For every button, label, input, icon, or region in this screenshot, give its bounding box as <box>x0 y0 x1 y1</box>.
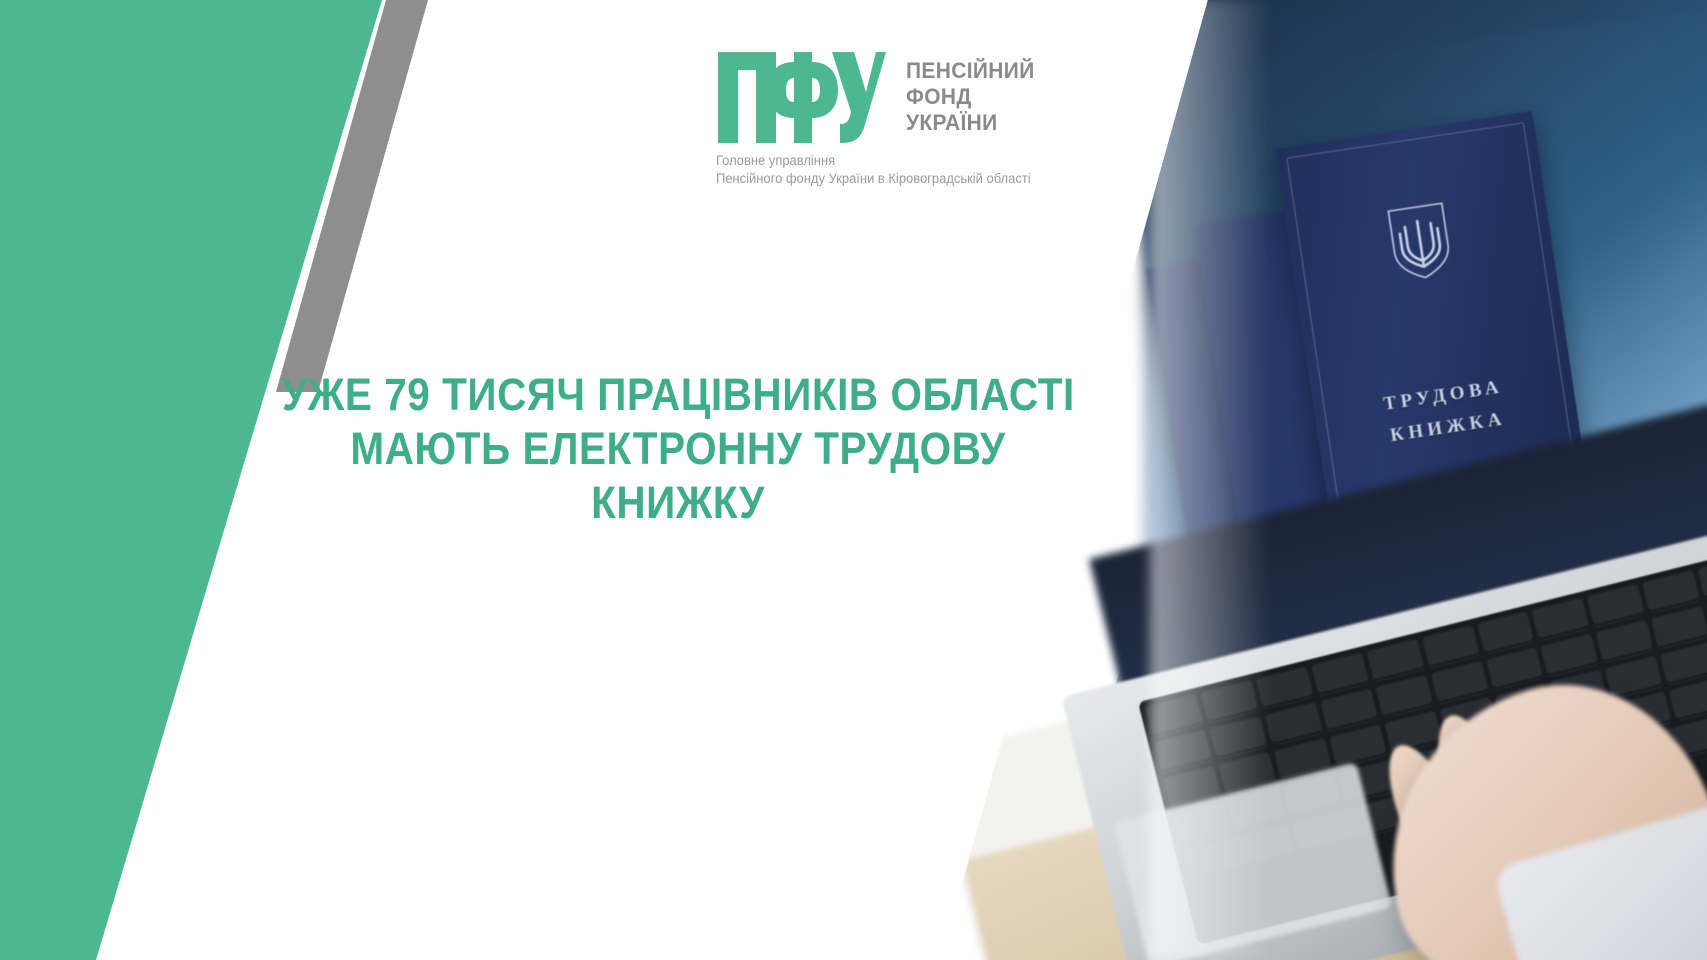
poster-canvas: ТРУДОВА КНИЖКА <box>0 0 1707 960</box>
keyboard-key <box>1605 656 1663 699</box>
logo-word-1: ПЕНСІЙНИЙ <box>906 58 1035 84</box>
department-subtitle-line1: Головне управління <box>716 152 1062 170</box>
keyboard-key <box>1587 584 1645 627</box>
keyboard-key <box>1660 642 1707 685</box>
keyboard-key <box>1421 625 1479 668</box>
keyboard-key <box>1532 598 1590 641</box>
keyboard-key <box>1669 678 1707 721</box>
pfu-logo-block: ПЕНСІЙНИЙ ФОНД УКРАЇНИ Головне управлінн… <box>716 48 1076 198</box>
headline-line-1: УЖЕ 79 ТИСЯЧ ПРАЦІВНИКІВ ОБЛАСТІ <box>282 368 1074 422</box>
department-subtitle: Головне управління Пенсійного фонду Укра… <box>716 152 1076 188</box>
logo-word-3: УКРАЇНИ <box>906 110 1035 136</box>
department-subtitle-line2: Пенсійного фонду України в Кіровоградськ… <box>716 170 1062 188</box>
keyboard-key <box>1698 556 1707 599</box>
keyboard-key <box>1329 724 1387 767</box>
keyboard-key <box>1486 647 1544 690</box>
headline-line-2: МАЮТЬ ЕЛЕКТРОННУ ТРУДОВУ <box>282 422 1074 476</box>
keyboard-key <box>1384 711 1442 754</box>
ukraine-trident-icon <box>1384 199 1457 285</box>
keyboard-key <box>1265 702 1323 745</box>
logo-word-2: ФОНД <box>906 84 1035 110</box>
keyboard-key <box>1320 689 1378 732</box>
page-title: УЖЕ 79 ТИСЯЧ ПРАЦІВНИКІВ ОБЛАСТІ МАЮТЬ Е… <box>238 368 1118 530</box>
keyboard-key <box>1477 611 1535 654</box>
keyboard-key <box>1541 633 1599 676</box>
headline-line-3: КНИЖКУ <box>282 476 1074 530</box>
keyboard-key <box>1430 661 1488 704</box>
keyboard-key <box>1366 639 1424 682</box>
pfu-logo-icon <box>716 48 886 143</box>
keyboard-key <box>1311 653 1369 696</box>
keyboard-key <box>1651 606 1707 649</box>
keyboard-key <box>1375 675 1433 718</box>
keyboard-key <box>1642 570 1700 613</box>
pfu-logo-wordmark: ПЕНСІЙНИЙ ФОНД УКРАЇНИ <box>906 48 1044 136</box>
photo-edge-fade <box>1150 0 1270 960</box>
keyboard-key <box>1596 620 1654 663</box>
